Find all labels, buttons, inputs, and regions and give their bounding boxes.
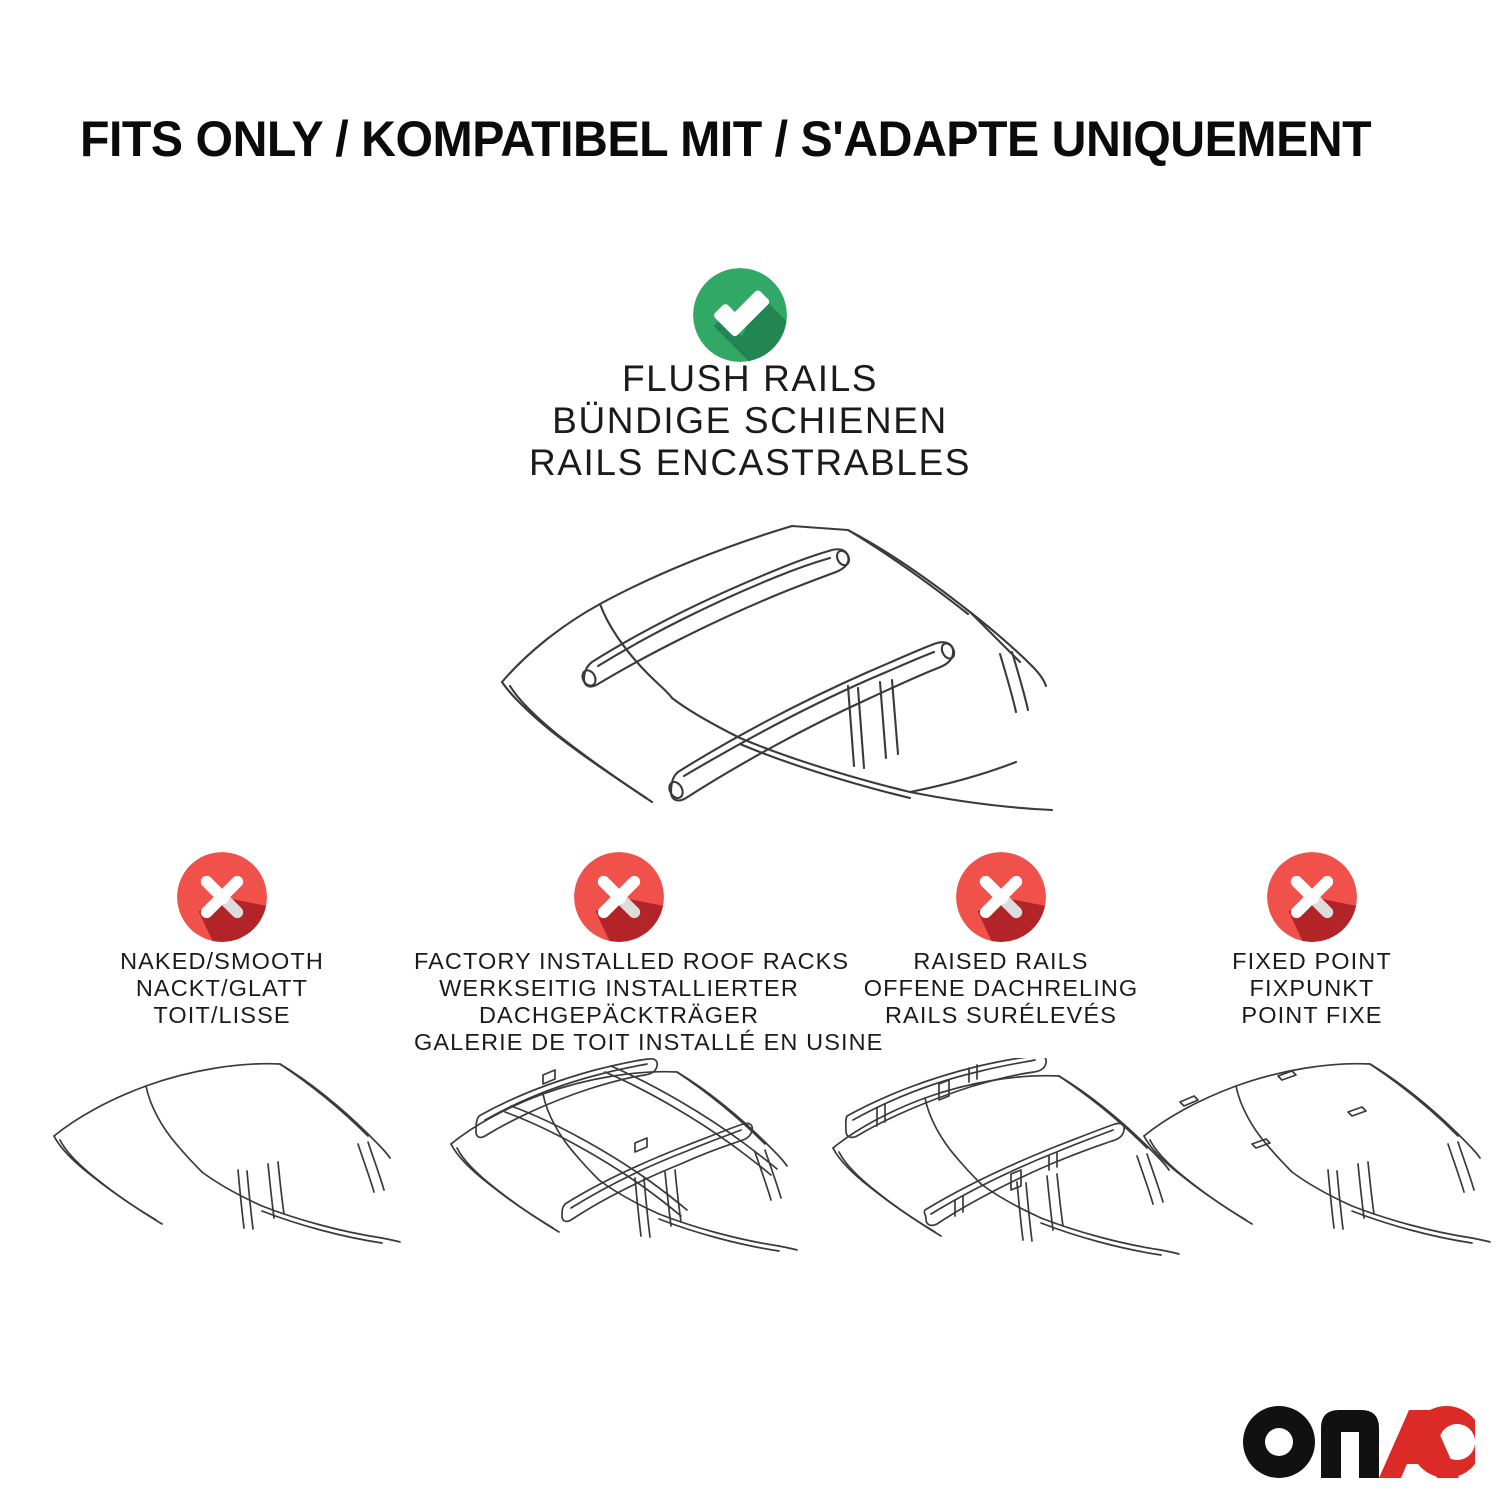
caption-line-3: TOIT/LISSE bbox=[42, 1002, 402, 1029]
car-roof-factory-racks-illustration bbox=[439, 1058, 799, 1283]
approved-caption-line-3: RAILS ENCASTRABLES bbox=[400, 442, 1100, 484]
approved-caption: FLUSH RAILS BÜNDIGE SCHIENEN RAILS ENCAS… bbox=[400, 358, 1100, 484]
omac-logo bbox=[1243, 1406, 1475, 1478]
x-circle-icon bbox=[177, 852, 267, 942]
caption-line-1: FIXED POINT bbox=[1132, 948, 1492, 975]
check-circle-icon bbox=[693, 268, 787, 362]
page-title-text: FITS ONLY / KOMPATIBEL MIT / S'ADAPTE UN… bbox=[80, 110, 1371, 168]
car-roof-flush-rails-illustration bbox=[440, 486, 1080, 816]
approved-caption-line-1: FLUSH RAILS bbox=[400, 358, 1100, 400]
car-roof-fixed-point-illustration bbox=[1132, 1058, 1492, 1283]
caption-line-2: WERKSEITIG INSTALLIERTER bbox=[414, 975, 824, 1002]
caption-line-3: POINT FIXE bbox=[1132, 1002, 1492, 1029]
x-circle-icon bbox=[574, 852, 664, 942]
caption-line-1: FACTORY INSTALLED ROOF RACKS bbox=[414, 948, 824, 975]
caption-line-2: NACKT/GLATT bbox=[42, 975, 402, 1002]
caption-line-3: DACHGEPÄCKTRÄGER bbox=[414, 1002, 824, 1029]
caption-line-1: NAKED/SMOOTH bbox=[42, 948, 402, 975]
x-circle-icon bbox=[1267, 852, 1357, 942]
x-circle-icon bbox=[956, 852, 1046, 942]
caption-fixed-point: FIXED POINT FIXPUNKT POINT FIXE bbox=[1132, 948, 1492, 1029]
car-roof-naked-illustration bbox=[42, 1058, 402, 1283]
approved-caption-line-2: BÜNDIGE SCHIENEN bbox=[400, 400, 1100, 442]
car-roof-raised-rails-illustration bbox=[821, 1058, 1181, 1283]
caption-line-4: GALERIE DE TOIT INSTALLÉ EN USINE bbox=[414, 1029, 824, 1056]
caption-factory-roof-racks: FACTORY INSTALLED ROOF RACKS WERKSEITIG … bbox=[414, 948, 824, 1056]
caption-line-2: FIXPUNKT bbox=[1132, 975, 1492, 1002]
caption-naked-smooth: NAKED/SMOOTH NACKT/GLATT TOIT/LISSE bbox=[42, 948, 402, 1029]
page-title: FITS ONLY / KOMPATIBEL MIT / S'ADAPTE UN… bbox=[80, 104, 1420, 174]
